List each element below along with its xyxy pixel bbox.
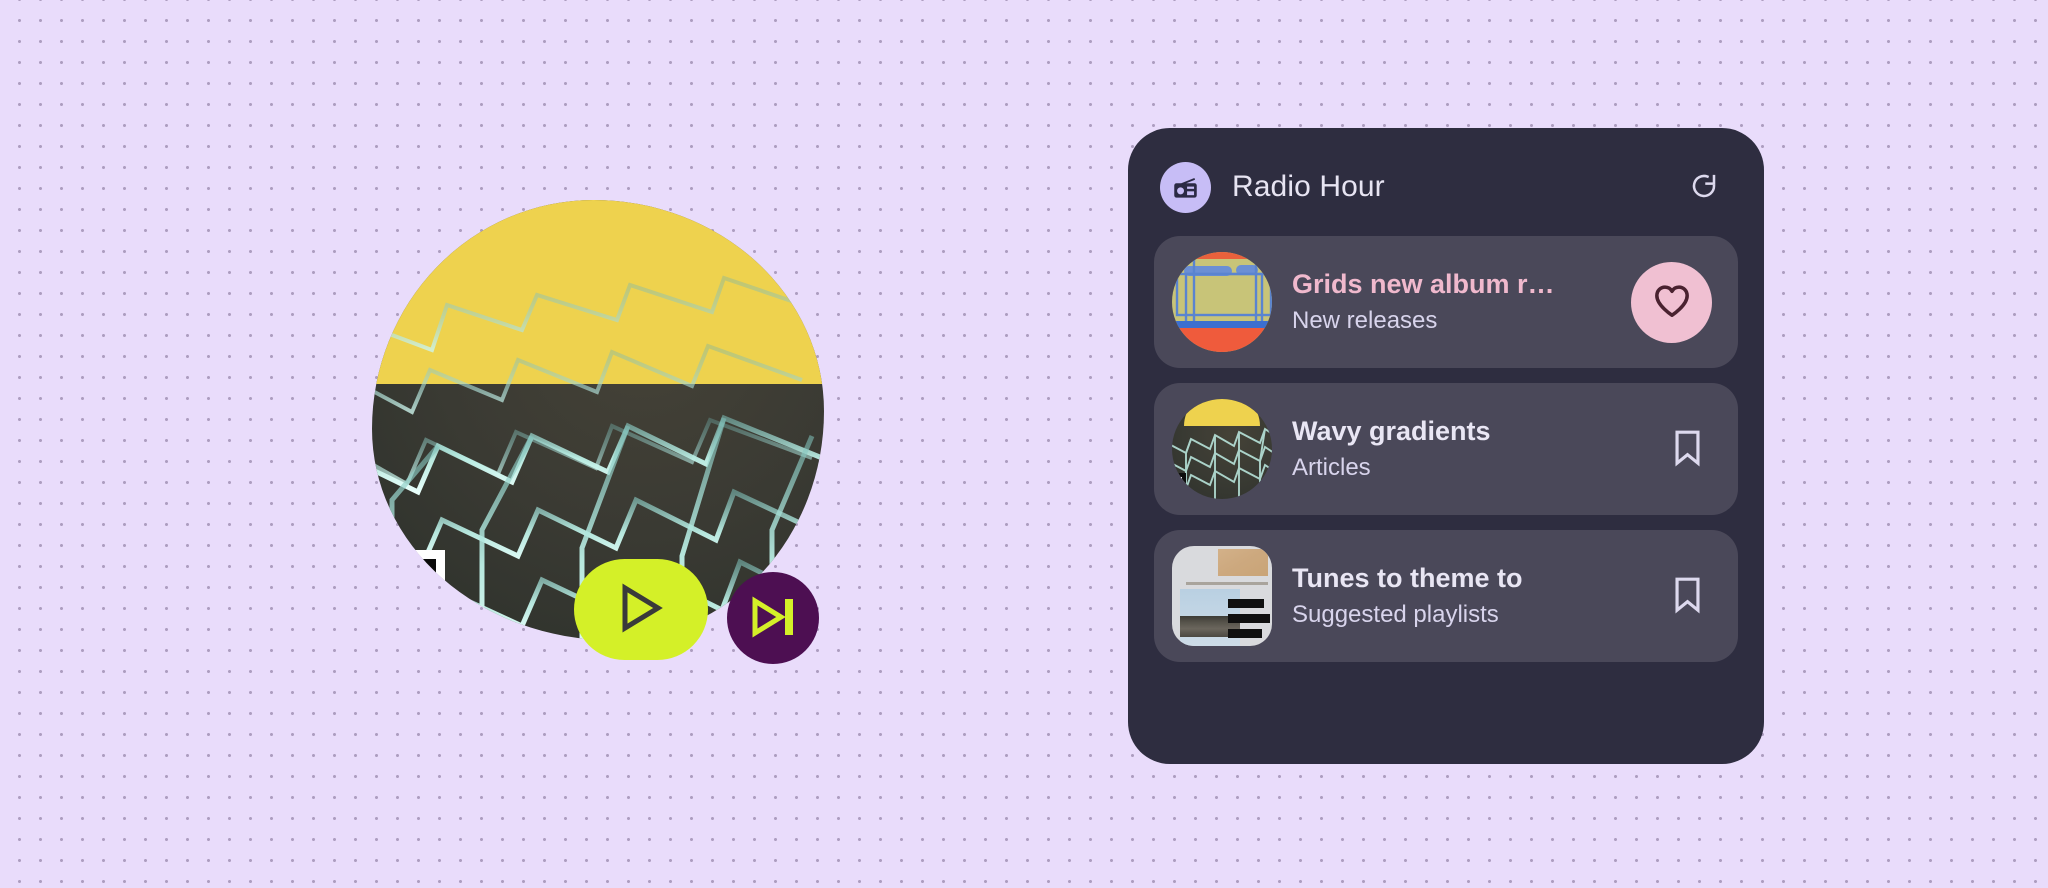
list-item-text: Tunes to theme to Suggested playlists: [1292, 561, 1648, 631]
list-item-title: Grids new album r…: [1292, 267, 1617, 302]
bookmark-button[interactable]: [1662, 571, 1712, 621]
tunes-playlist-thumbnail: [1172, 546, 1272, 646]
list-item-subtitle: Suggested playlists: [1292, 599, 1648, 631]
play-triangle-icon: [618, 583, 664, 636]
wavy-gradients-thumbnail: [1172, 399, 1272, 499]
skip-next-icon: [749, 595, 797, 642]
list-item[interactable]: Grids new album r… New releases: [1154, 236, 1738, 368]
panel-title: Radio Hour: [1232, 170, 1385, 204]
grids-album-thumbnail: [1172, 252, 1272, 352]
refresh-icon: [1688, 170, 1720, 205]
refresh-button[interactable]: [1684, 167, 1724, 207]
list-item-text: Wavy gradients Articles: [1292, 414, 1648, 484]
list-item[interactable]: Wavy gradients Articles: [1154, 383, 1738, 515]
list-item-title: Wavy gradients: [1292, 414, 1648, 449]
skip-next-button[interactable]: [727, 572, 819, 664]
list-item-title: Tunes to theme to: [1292, 561, 1648, 596]
list-item-text: Grids new album r… New releases: [1292, 267, 1617, 337]
list-item-subtitle: Articles: [1292, 452, 1648, 484]
list-item[interactable]: Tunes to theme to Suggested playlists: [1154, 530, 1738, 662]
bookmark-icon: [1671, 429, 1704, 470]
artwork-square-accent: [372, 550, 445, 640]
radio-hour-panel: Radio Hour Grids new: [1128, 128, 1764, 764]
bookmark-button[interactable]: [1662, 424, 1712, 474]
bookmark-icon: [1671, 576, 1704, 617]
radio-icon: [1160, 162, 1211, 213]
play-button[interactable]: [574, 559, 708, 660]
heart-icon: [1653, 284, 1691, 321]
favorite-button[interactable]: [1631, 262, 1712, 343]
panel-header: Radio Hour: [1154, 156, 1738, 218]
list-item-subtitle: New releases: [1292, 305, 1617, 337]
